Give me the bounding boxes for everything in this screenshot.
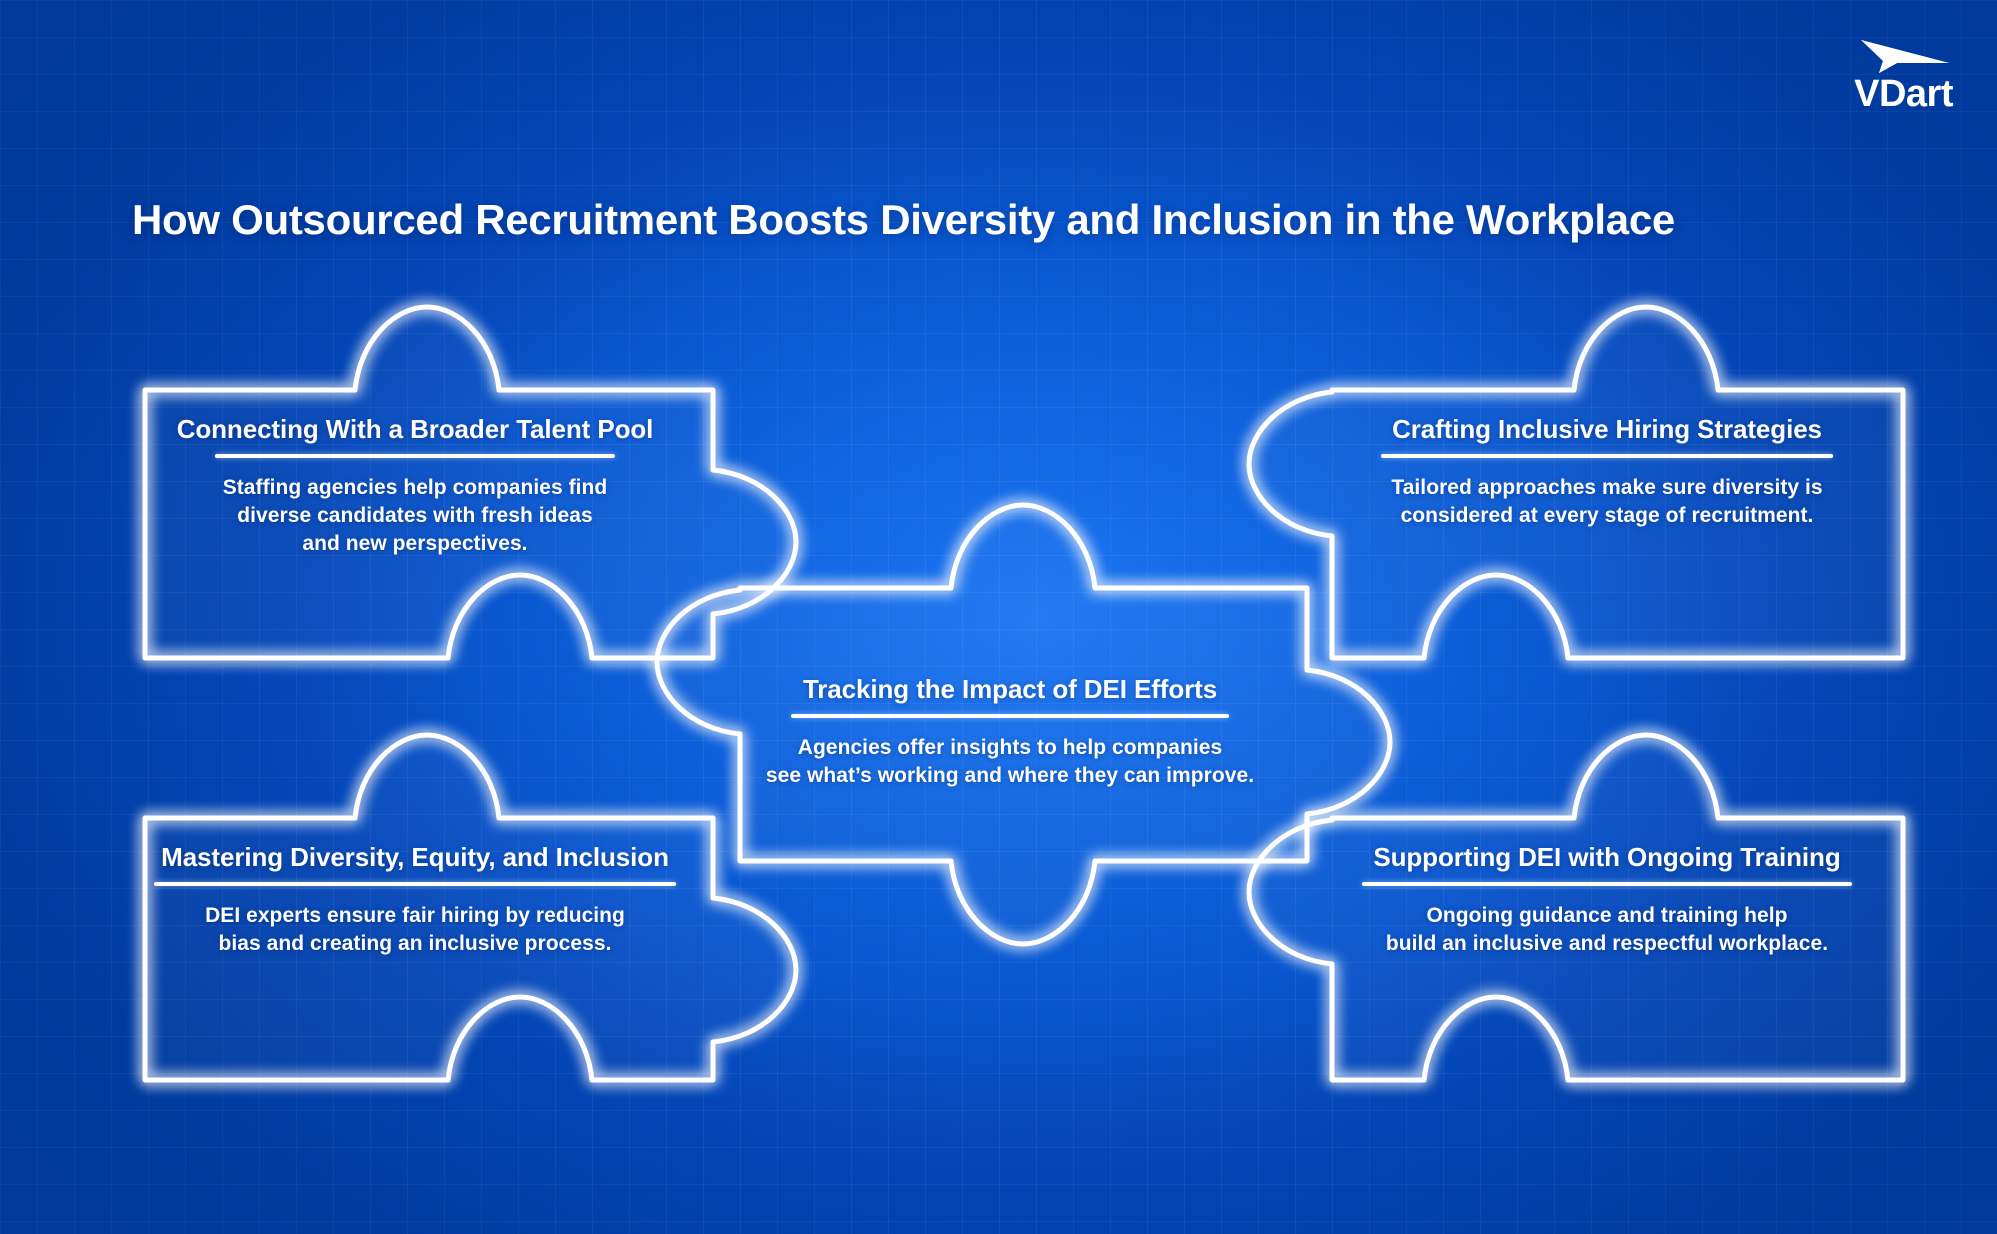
piece-heading: Supporting DEI with Ongoing Training	[1373, 843, 1840, 873]
piece-body: Staffing agencies help companies find di…	[223, 474, 608, 558]
piece-heading: Crafting Inclusive Hiring Strategies	[1392, 415, 1822, 445]
heading-underline	[215, 454, 615, 458]
heading-underline	[1381, 454, 1833, 458]
heading-underline	[154, 882, 676, 886]
piece-card-bottom-right[interactable]: Supporting DEI with Ongoing Training Ong…	[1337, 843, 1877, 958]
piece-card-top-right[interactable]: Crafting Inclusive Hiring Strategies Tai…	[1337, 415, 1877, 530]
infographic-canvas: VDart How Outsourced Recruitment Boosts …	[0, 0, 1997, 1234]
piece-body: DEI experts ensure fair hiring by reduci…	[205, 902, 625, 958]
dart-paper-plane-icon	[1857, 30, 1953, 74]
piece-heading: Tracking the Impact of DEI Efforts	[803, 675, 1217, 705]
heading-underline	[1362, 882, 1852, 886]
heading-underline	[791, 714, 1229, 718]
puzzle-outline-layer	[0, 0, 1997, 1234]
piece-body: Ongoing guidance and training help build…	[1386, 902, 1828, 958]
piece-card-top-left[interactable]: Connecting With a Broader Talent Pool St…	[145, 415, 685, 558]
logo-wordmark: VDart	[1854, 75, 1953, 113]
page-title: How Outsourced Recruitment Boosts Divers…	[132, 196, 1675, 244]
piece-card-center[interactable]: Tracking the Impact of DEI Efforts Agenc…	[740, 675, 1280, 790]
vdart-logo[interactable]: VDart	[1854, 30, 1953, 113]
piece-heading: Connecting With a Broader Talent Pool	[177, 415, 654, 445]
piece-body: Tailored approaches make sure diversity …	[1391, 474, 1822, 530]
piece-body: Agencies offer insights to help companie…	[766, 734, 1254, 790]
piece-card-bottom-left[interactable]: Mastering Diversity, Equity, and Inclusi…	[145, 843, 685, 958]
piece-heading: Mastering Diversity, Equity, and Inclusi…	[161, 843, 669, 873]
